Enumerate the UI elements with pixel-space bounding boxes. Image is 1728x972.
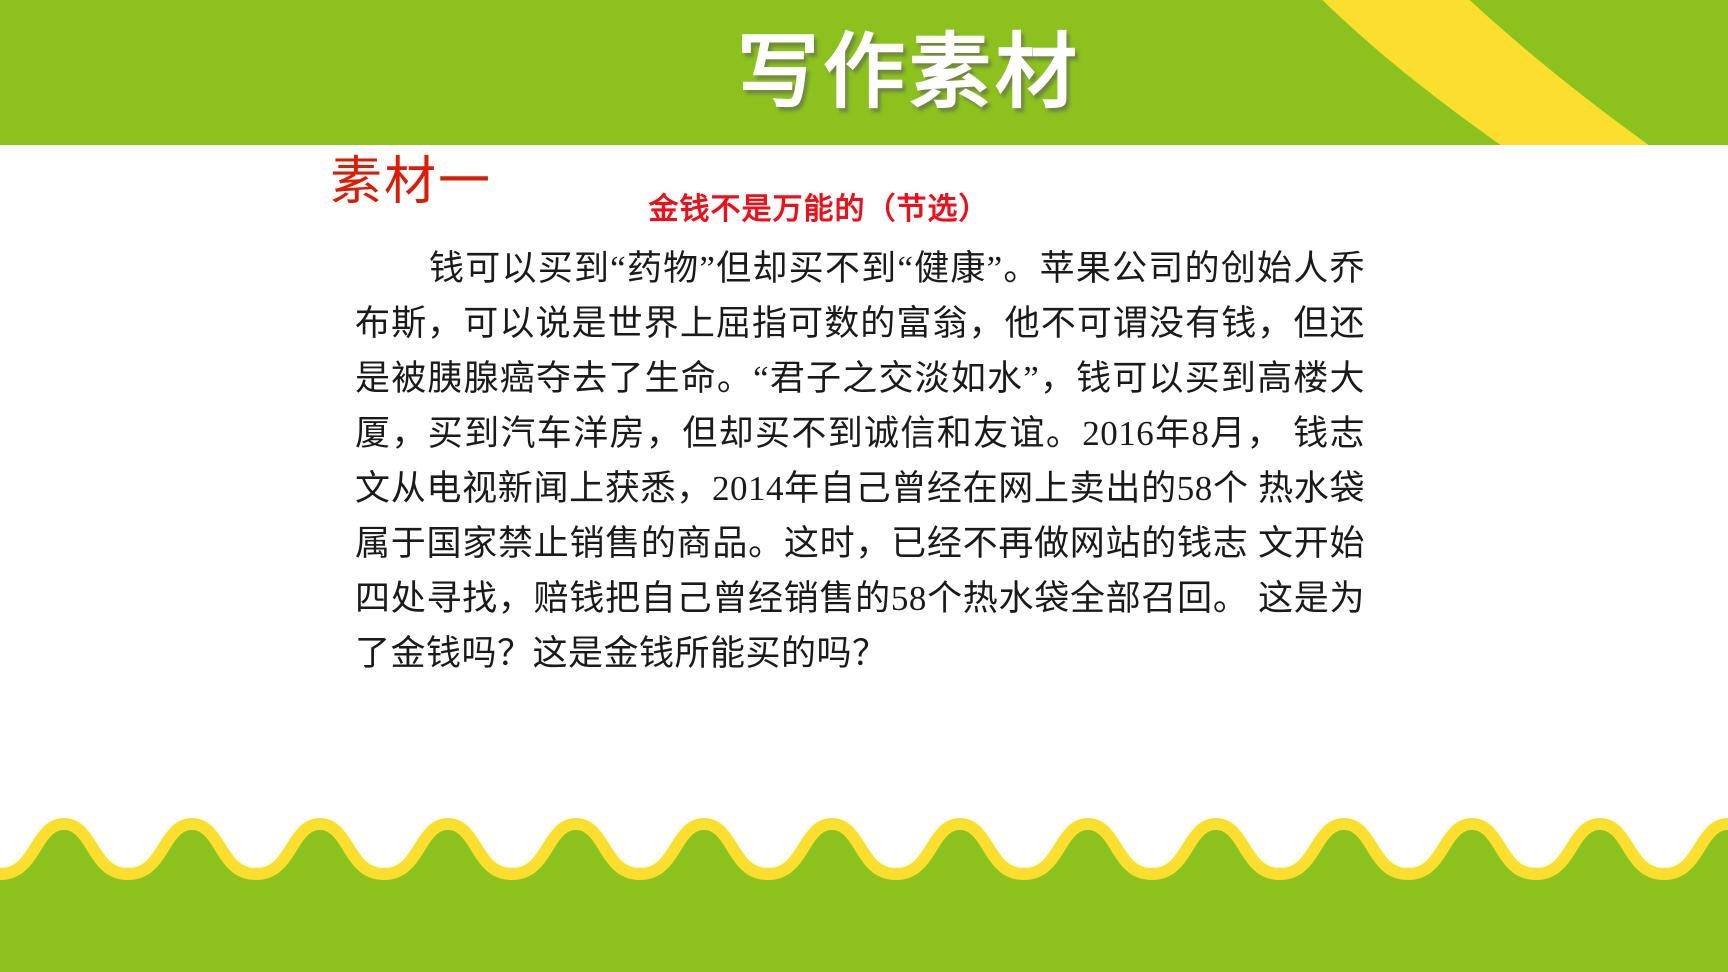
article-title: 金钱不是万能的（节选） <box>0 193 1728 226</box>
content-area: 素材一 金钱不是万能的（节选） 钱可以买到“药物”但却买不到“健康”。苹果公司的… <box>0 145 1728 765</box>
footer-wave-decoration <box>0 740 1728 972</box>
slide-title: 写作素材 <box>0 0 1728 145</box>
slide-title-text: 写作素材 <box>737 32 1081 114</box>
header-banner: 写作素材 <box>0 0 1728 145</box>
slide: 写作素材 素材一 金钱不是万能的（节选） 钱可以买到“药物”但却买不到“健康”。… <box>0 0 1728 972</box>
article-body: 钱可以买到“药物”但却买不到“健康”。苹果公司的创始人乔布斯，可以说是世界上屈指… <box>355 241 1365 681</box>
article-paragraph: 钱可以买到“药物”但却买不到“健康”。苹果公司的创始人乔布斯，可以说是世界上屈指… <box>355 241 1365 681</box>
